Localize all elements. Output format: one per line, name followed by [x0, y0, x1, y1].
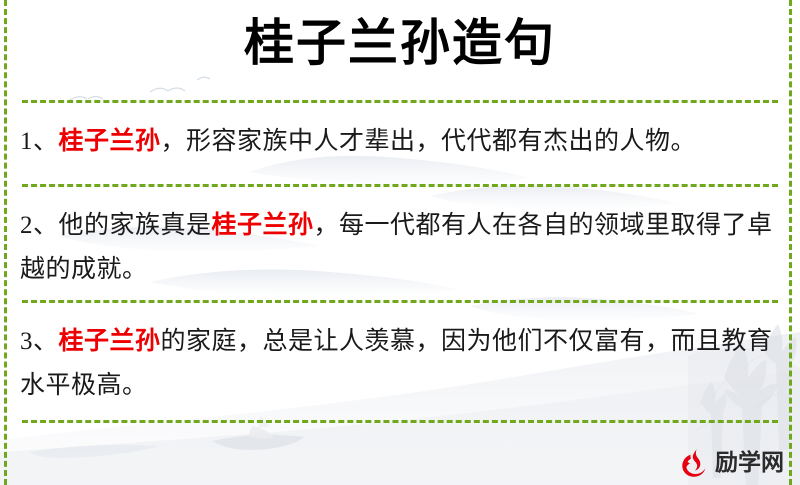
- frame-border-right: [789, 0, 792, 485]
- keyword-highlight-3: 桂子兰孙: [59, 328, 161, 355]
- example-sentence-2: 2、他的家族真是桂子兰孙，每一代都有人在各自的领域里取得了卓越的成就。: [20, 204, 782, 292]
- sentence-number-3: 3、: [20, 328, 59, 355]
- sentence-number-2: 2、: [20, 212, 59, 239]
- slide-canvas: 桂子兰孙造句 1、桂子兰孙，形容家族中人才辈出，代代都有杰出的人物。 2、他的家…: [0, 0, 800, 485]
- sentence-prefix-2: 他的家族真是: [59, 212, 212, 239]
- keyword-highlight-2: 桂子兰孙: [212, 212, 314, 239]
- flame-swirl-icon: [678, 447, 710, 479]
- keyword-highlight-1: 桂子兰孙: [59, 128, 161, 155]
- divider-1: [22, 100, 778, 103]
- watermark-label: 励学网: [715, 452, 784, 475]
- divider-3: [22, 300, 778, 303]
- title-container: 桂子兰孙造句: [0, 14, 800, 72]
- sentence-body-1: ，形容家族中人才辈出，代代都有杰出的人物。: [161, 128, 697, 155]
- sentence-number-1: 1、: [20, 128, 59, 155]
- example-sentence-1: 1、桂子兰孙，形容家族中人才辈出，代代都有杰出的人物。: [20, 120, 782, 164]
- site-watermark: 励学网: [678, 447, 784, 479]
- page-title: 桂子兰孙造句: [244, 14, 556, 72]
- divider-2: [22, 184, 778, 187]
- divider-4: [22, 420, 778, 423]
- example-sentence-3: 3、桂子兰孙的家庭，总是让人羡慕，因为他们不仅富有，而且教育水平极高。: [20, 320, 782, 408]
- frame-border-left: [4, 0, 7, 485]
